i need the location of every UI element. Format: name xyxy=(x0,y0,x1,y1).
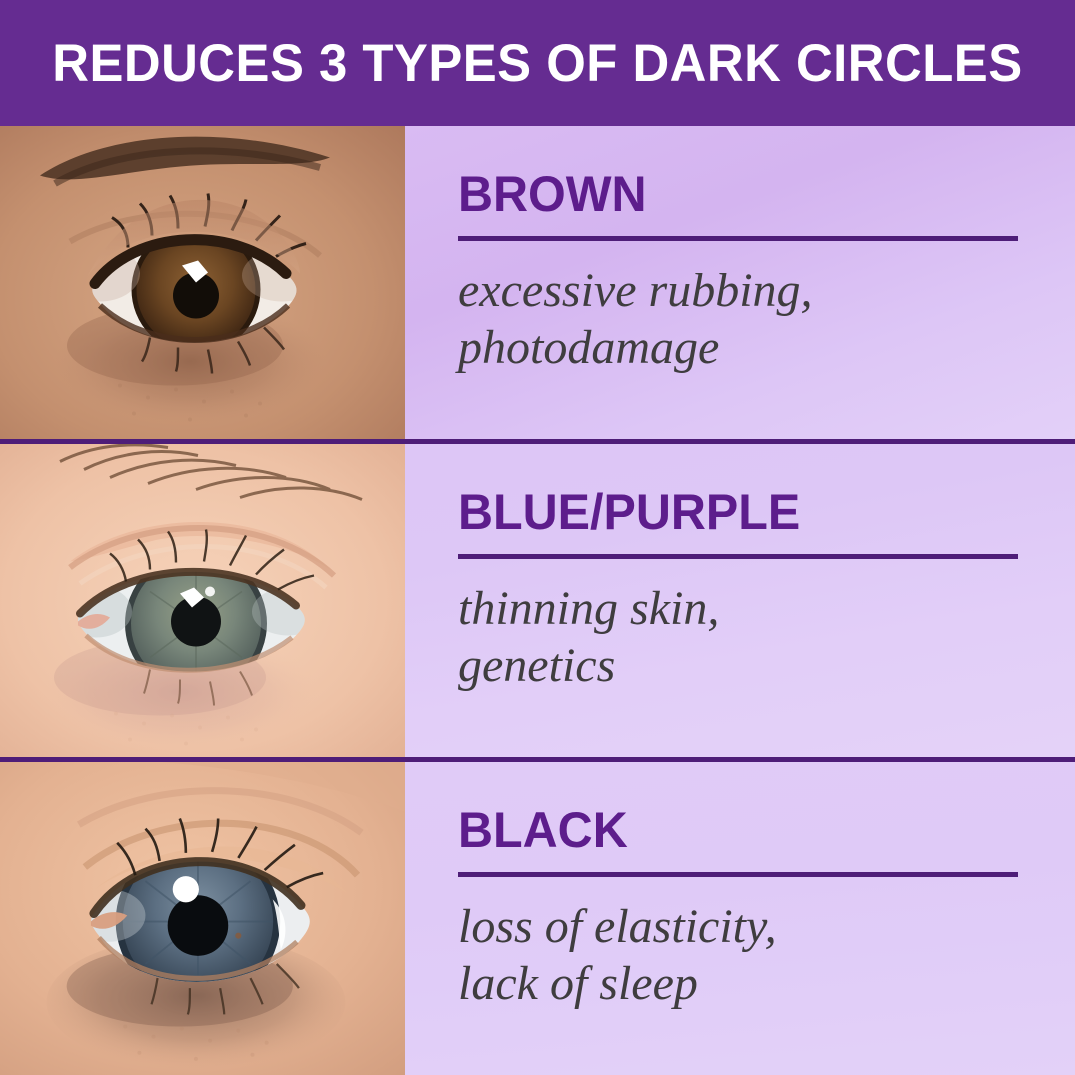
section-heading: BROWN xyxy=(458,170,1002,218)
section-underline xyxy=(458,872,1018,877)
poster-root: REDUCES 3 TYPES OF DARK CIRCLES xyxy=(0,0,1075,1075)
section-panel: BROWN excessive rubbing, photodamage xyxy=(405,126,1075,439)
section-row: BLACK loss of elasticity, lack of sleep xyxy=(0,762,1075,1075)
section-heading: BLACK xyxy=(458,806,1002,854)
section-underline xyxy=(458,236,1018,241)
brown-eye-photo xyxy=(0,126,405,439)
section-description: loss of elasticity, lack of sleep xyxy=(458,899,1019,1012)
section-description: excessive rubbing, photodamage xyxy=(458,263,1019,376)
section-row: BROWN excessive rubbing, photodamage xyxy=(0,126,1075,444)
section-underline xyxy=(458,554,1018,559)
header-banner: REDUCES 3 TYPES OF DARK CIRCLES xyxy=(0,0,1075,126)
section-heading: BLUE/PURPLE xyxy=(458,488,1002,536)
section-panel: BLUE/PURPLE thinning skin, genetics xyxy=(405,444,1075,757)
blue-purple-eye-photo xyxy=(0,444,405,757)
section-description: thinning skin, genetics xyxy=(458,581,1019,694)
section-panel: BLACK loss of elasticity, lack of sleep xyxy=(405,762,1075,1075)
black-eye-photo xyxy=(0,762,405,1075)
sections-container: BROWN excessive rubbing, photodamage xyxy=(0,126,1075,1075)
section-row: BLUE/PURPLE thinning skin, genetics xyxy=(0,444,1075,762)
page-title: REDUCES 3 TYPES OF DARK CIRCLES xyxy=(52,37,1022,90)
